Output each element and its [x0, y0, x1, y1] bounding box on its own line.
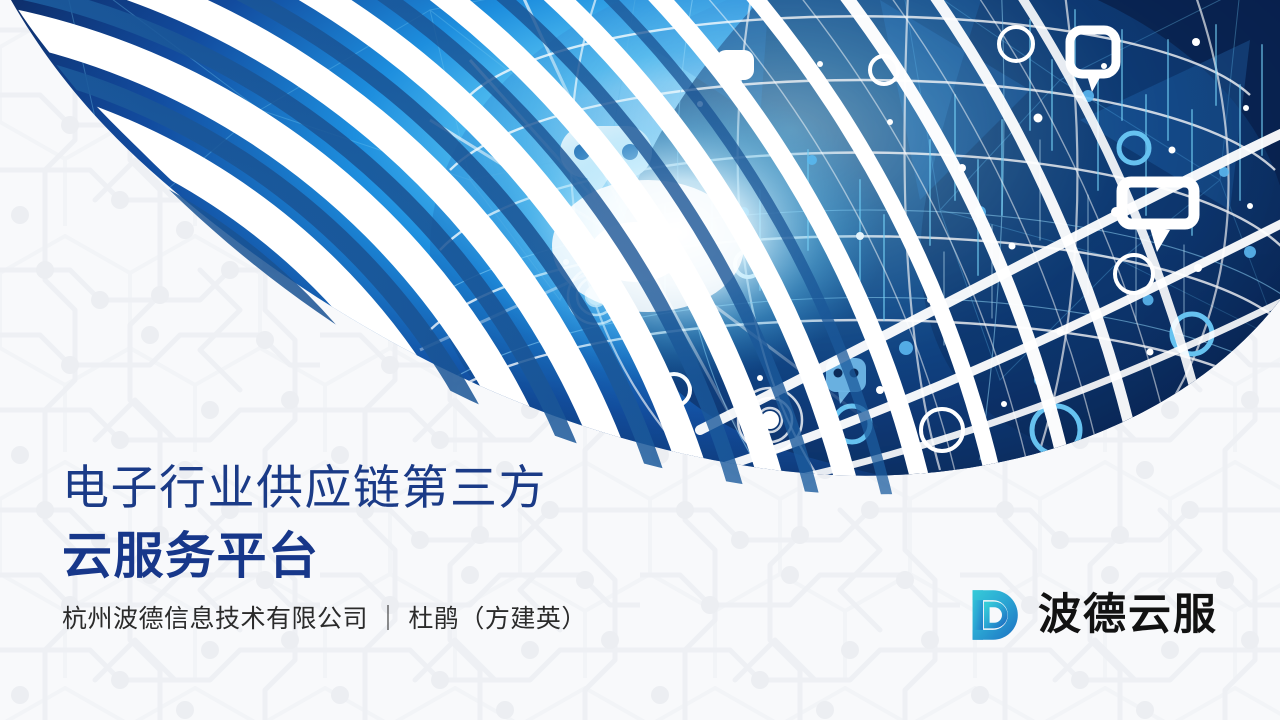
subtitle-text: 杭州波德信息技术有限公司 ｜ 杜鹃（方建英）	[62, 602, 762, 636]
page-title-line-2: 云服务平台	[62, 524, 762, 588]
title-slide: 电子行业供应链第三方 云服务平台 杭州波德信息技术有限公司 ｜ 杜鹃（方建英） …	[0, 0, 1280, 720]
logo-wordmark: 波德云服	[1038, 591, 1218, 639]
bode-yunfu-monogram-icon	[962, 584, 1024, 646]
title-block: 电子行业供应链第三方 云服务平台 杭州波德信息技术有限公司 ｜ 杜鹃（方建英）	[62, 458, 762, 636]
company-logo: 波德云服	[962, 584, 1218, 646]
page-title-line-1: 电子行业供应链第三方	[62, 458, 762, 518]
